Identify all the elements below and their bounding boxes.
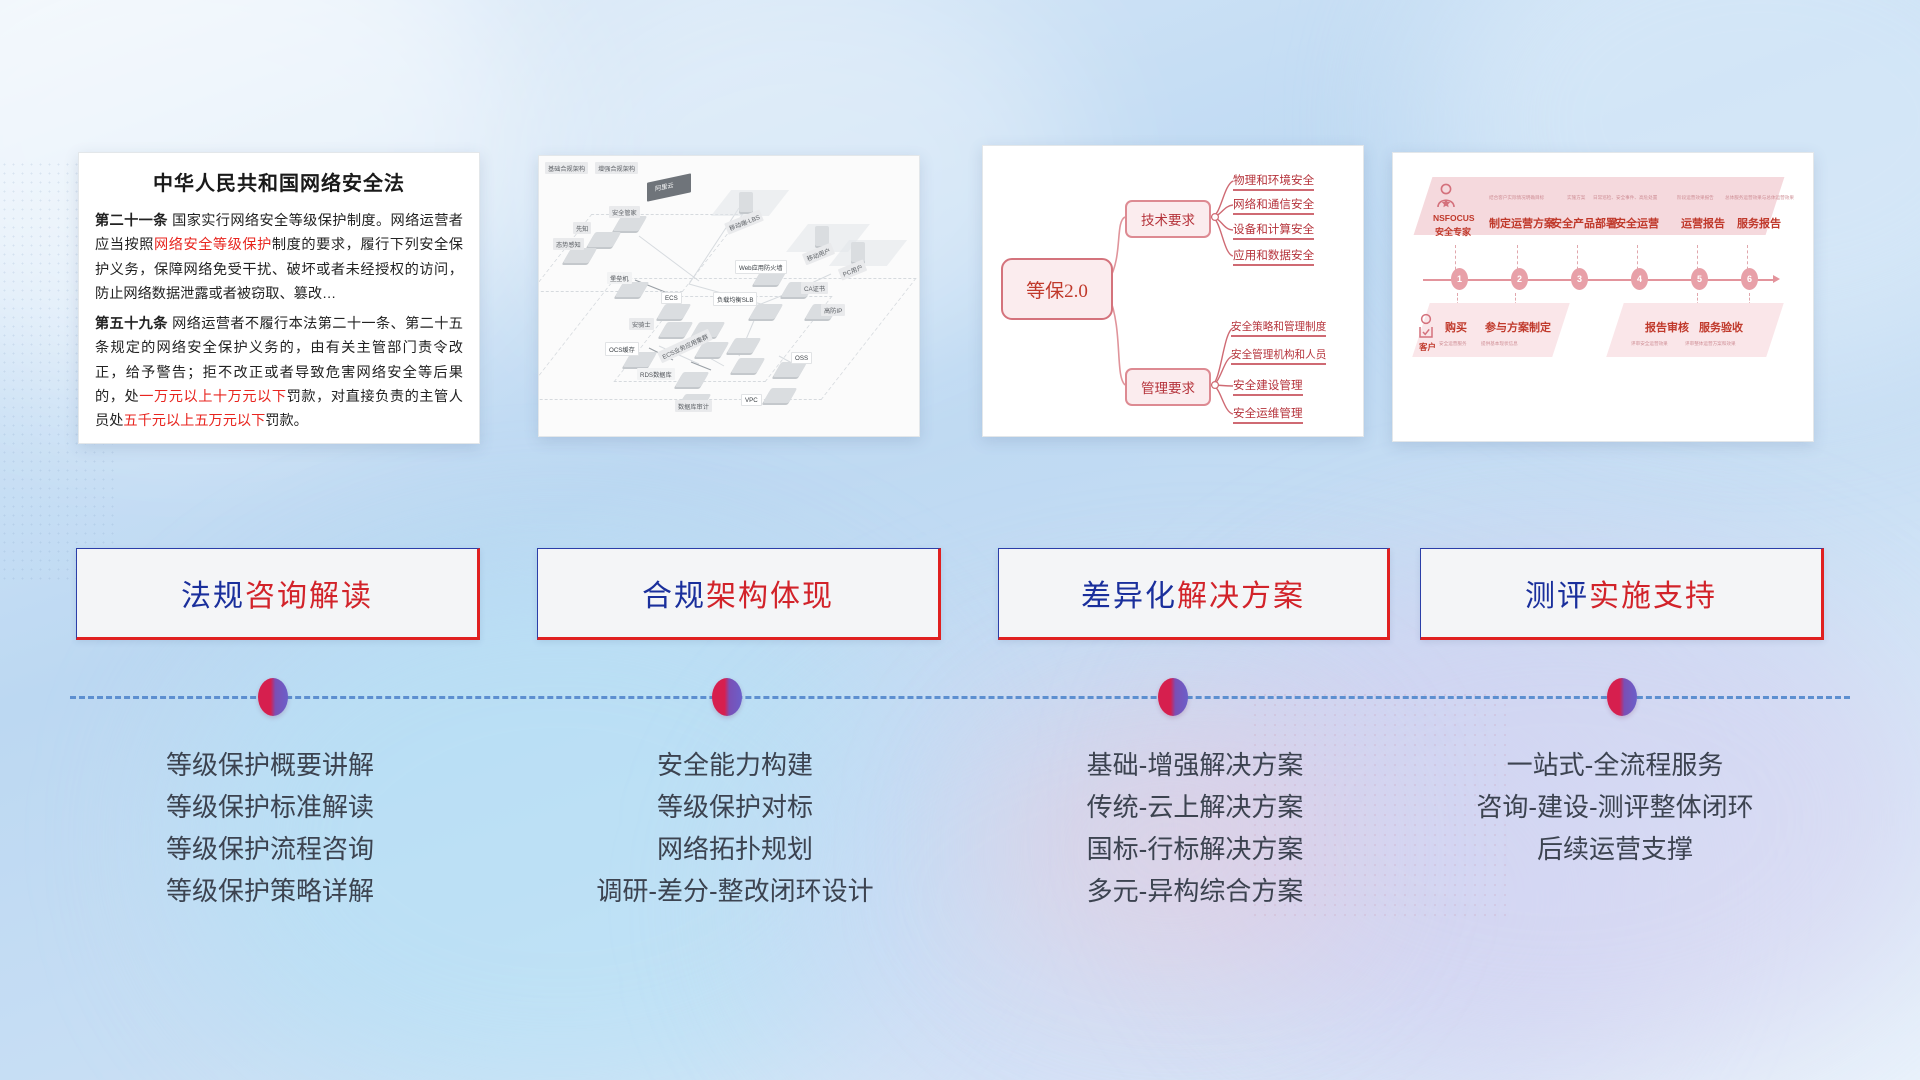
feature-column-4: 一站式-全流程服务 咨询-建设-测评整体闭环 后续运营支撑 bbox=[1405, 744, 1825, 870]
arch-label-ocs: OCS缓存 bbox=[605, 342, 639, 356]
list-item: 后续运营支撑 bbox=[1405, 828, 1825, 870]
law-article-21-label: 第二十一条 bbox=[95, 213, 168, 229]
list-item: 等级保护对标 bbox=[525, 786, 945, 828]
mindmap-leaf: 物理和环境安全 bbox=[1233, 172, 1314, 191]
arch-label-ca: CA证书 bbox=[801, 282, 828, 294]
ops-bottom-sub: 评审安全运营效果 bbox=[1631, 341, 1668, 347]
arch-label-bastion: 堡垒机 bbox=[607, 272, 632, 284]
ops-top-step: 服务报告 bbox=[1737, 215, 1781, 231]
ops-bottom-step: 服务验收 bbox=[1699, 319, 1743, 335]
ops-connector bbox=[1577, 245, 1579, 275]
list-item: 调研-差分-整改闭环设计 bbox=[525, 870, 945, 912]
law-article-21: 第二十一条 国家实行网络安全等级保护制度。网络运营者应当按照网络安全等级保护制度… bbox=[95, 209, 463, 307]
arch-label-oss: OSS bbox=[791, 352, 812, 364]
timeline-dashed-line bbox=[70, 696, 1850, 699]
arch-label-slb: 负载均衡SLB bbox=[713, 292, 757, 306]
mindmap-leaf: 安全建设管理 bbox=[1233, 377, 1303, 396]
ops-top-step: 制定运营方案 bbox=[1489, 215, 1555, 231]
customer-icon bbox=[1417, 313, 1435, 339]
mindmap-leaf: 设备和计算安全 bbox=[1233, 221, 1314, 240]
list-item: 等级保护概要讲解 bbox=[60, 744, 480, 786]
list-item: 等级保护标准解读 bbox=[60, 786, 480, 828]
ops-connector bbox=[1517, 245, 1519, 275]
ops-bottom-sub: 评审整体运营方案和效果 bbox=[1685, 341, 1736, 347]
title-box-4[interactable]: 测评实施支持 bbox=[1420, 548, 1824, 640]
arch-tab-enhanced[interactable]: 增强合规架构 bbox=[595, 162, 638, 174]
slide-canvas: 中华人民共和国网络安全法 第二十一条 国家实行网络安全等级保护制度。网络运营者应… bbox=[0, 0, 1920, 1080]
mindmap-branch-technical: 技术要求 bbox=[1125, 200, 1211, 238]
ops-top-step: 安全产品部署 bbox=[1551, 215, 1617, 231]
ops-expert-label-line1: NSFOCUS bbox=[1433, 213, 1475, 223]
mindmap-leaf: 安全策略和管理制度 bbox=[1231, 319, 1326, 337]
ops-top-sub: 总体服务运营效果与总体运营效果 bbox=[1725, 195, 1794, 201]
feature-column-3: 基础-增强解决方案 传统-云上解决方案 国标-行标解决方案 多元-异构综合方案 bbox=[985, 744, 1405, 912]
title-box-3[interactable]: 差异化解决方案 bbox=[998, 548, 1390, 640]
expert-icon bbox=[1435, 183, 1457, 209]
list-item: 咨询-建设-测评整体闭环 bbox=[1405, 786, 1825, 828]
ops-step-number: 1 bbox=[1451, 268, 1468, 290]
mindmap-leaf: 应用和数据安全 bbox=[1233, 247, 1314, 266]
law-article-59-highlight-2: 五千元以上五万元以下 bbox=[123, 413, 265, 429]
law-article-59-highlight-1: 一万元以上十万元以下 bbox=[139, 389, 286, 405]
ops-bottom-band-right bbox=[1606, 303, 1784, 357]
arch-label-vpc: VPC bbox=[741, 394, 762, 406]
ops-axis-line bbox=[1423, 279, 1775, 281]
title-box-1-red: 咨询解读 bbox=[245, 571, 373, 615]
law-article-21-highlight: 网络安全等级保护 bbox=[154, 237, 272, 253]
ops-connector bbox=[1697, 245, 1699, 275]
ops-top-step: 运营报告 bbox=[1681, 215, 1725, 231]
arch-label-waf: Web应用防火墙 bbox=[735, 260, 787, 274]
ops-top-sub: 实施方案 bbox=[1567, 195, 1585, 201]
timeline-dot-2[interactable] bbox=[712, 678, 742, 716]
title-box-2-blue: 合规 bbox=[642, 571, 706, 615]
ops-bottom-sub: 安全运营服务 bbox=[1439, 341, 1467, 347]
ops-connector bbox=[1747, 245, 1749, 275]
ops-connector bbox=[1637, 245, 1639, 275]
ops-step-number: 6 bbox=[1741, 268, 1758, 290]
ops-top-sub: 日常巡检、安全事件、高危处置 bbox=[1593, 195, 1657, 201]
arch-label-db-audit: 数据库审计 bbox=[675, 400, 712, 412]
ops-step-number: 3 bbox=[1571, 268, 1588, 290]
arch-tab-basic[interactable]: 基础合规架构 bbox=[545, 162, 588, 174]
feature-column-1: 等级保护概要讲解 等级保护标准解读 等级保护流程咨询 等级保护策略详解 bbox=[60, 744, 480, 912]
arch-label-rds: RDS数据库 bbox=[637, 368, 675, 380]
list-item: 传统-云上解决方案 bbox=[985, 786, 1405, 828]
title-box-2[interactable]: 合规架构体现 bbox=[537, 548, 941, 640]
law-article-59-label: 第五十九条 bbox=[95, 316, 168, 332]
list-item: 等级保护流程咨询 bbox=[60, 828, 480, 870]
ops-top-sub: 结合客户实际情况明确目标 bbox=[1489, 195, 1544, 201]
title-box-1[interactable]: 法规咨询解读 bbox=[76, 548, 480, 640]
ops-top-sub: 阶段运营效果报告 bbox=[1677, 195, 1714, 201]
list-item: 网络拓扑规划 bbox=[525, 828, 945, 870]
ops-top-step: 安全运营 bbox=[1615, 215, 1659, 231]
list-item: 基础-增强解决方案 bbox=[985, 744, 1405, 786]
ops-step-number: 5 bbox=[1691, 268, 1708, 290]
title-box-3-red: 解决方案 bbox=[1177, 571, 1305, 615]
list-item: 一站式-全流程服务 bbox=[1405, 744, 1825, 786]
arch-label-situation: 态势感知 bbox=[553, 238, 584, 250]
timeline-dot-1[interactable] bbox=[258, 678, 288, 716]
timeline-dot-3[interactable] bbox=[1158, 678, 1188, 716]
arch-label-security-butler: 安全管家 bbox=[609, 206, 640, 218]
mindmap-branch-management: 管理要求 bbox=[1125, 368, 1211, 406]
law-article-59: 第五十九条 网络运营者不履行本法第二十一条、第二十五条规定的网络安全保护义务的，… bbox=[95, 312, 463, 434]
mindmap-leaf: 网络和通信安全 bbox=[1233, 196, 1314, 215]
law-article-59-body-3: 罚款。 bbox=[265, 413, 308, 429]
ops-bottom-step: 报告审核 bbox=[1645, 319, 1689, 335]
ops-bottom-step: 购买 bbox=[1445, 319, 1467, 335]
mindmap-root: 等保2.0 bbox=[1001, 258, 1113, 320]
card-ops-timeline: NSFOCUS 安全专家 结合客户实际情况明确目标 制定运营方案 实施方案 安全… bbox=[1392, 152, 1814, 442]
arch-label-high-ip: 高防IP bbox=[821, 304, 845, 316]
title-box-2-red: 架构体现 bbox=[706, 571, 834, 615]
arch-label-anqishi: 安骑士 bbox=[629, 318, 654, 330]
timeline-dot-4[interactable] bbox=[1607, 678, 1637, 716]
mindmap-leaf: 安全管理机构和人员 bbox=[1231, 347, 1326, 365]
ops-bottom-step: 参与方案制定 bbox=[1485, 319, 1551, 335]
law-title: 中华人民共和国网络安全法 bbox=[95, 167, 463, 196]
ops-step-number: 4 bbox=[1631, 268, 1648, 290]
ops-axis-arrow bbox=[1773, 275, 1780, 283]
title-box-3-blue: 差异化 bbox=[1081, 571, 1177, 615]
ops-bottom-sub: 提供基本现状信息 bbox=[1481, 341, 1518, 347]
title-box-4-red: 实施支持 bbox=[1589, 571, 1717, 615]
list-item: 国标-行标解决方案 bbox=[985, 828, 1405, 870]
ops-customer-label: 客户 bbox=[1419, 341, 1436, 353]
card-architecture-diagram: 基础合规架构 增强合规架构 阿里云 安全管家 先知 态势感知 堡垒机 ECS 安… bbox=[538, 155, 920, 437]
card-mindmap: 等保2.0 技术要求 物理和环境安全 网络和通信安全 设备和计算安全 应用和数据… bbox=[982, 145, 1364, 437]
ops-step-number: 2 bbox=[1511, 268, 1528, 290]
ops-expert-label-line2: 安全专家 bbox=[1435, 225, 1471, 238]
mindmap-leaf: 安全运维管理 bbox=[1233, 405, 1303, 424]
list-item: 等级保护策略详解 bbox=[60, 870, 480, 912]
arch-label-ecs: ECS bbox=[661, 292, 682, 304]
card-law-text: 中华人民共和国网络安全法 第二十一条 国家实行网络安全等级保护制度。网络运营者应… bbox=[78, 152, 480, 444]
list-item: 安全能力构建 bbox=[525, 744, 945, 786]
list-item: 多元-异构综合方案 bbox=[985, 870, 1405, 912]
title-box-4-blue: 测评 bbox=[1525, 571, 1589, 615]
ops-connector bbox=[1455, 245, 1457, 275]
feature-column-2: 安全能力构建 等级保护对标 网络拓扑规划 调研-差分-整改闭环设计 bbox=[525, 744, 945, 912]
title-box-1-blue: 法规 bbox=[181, 571, 245, 615]
arch-label-perception: 先知 bbox=[573, 222, 591, 234]
